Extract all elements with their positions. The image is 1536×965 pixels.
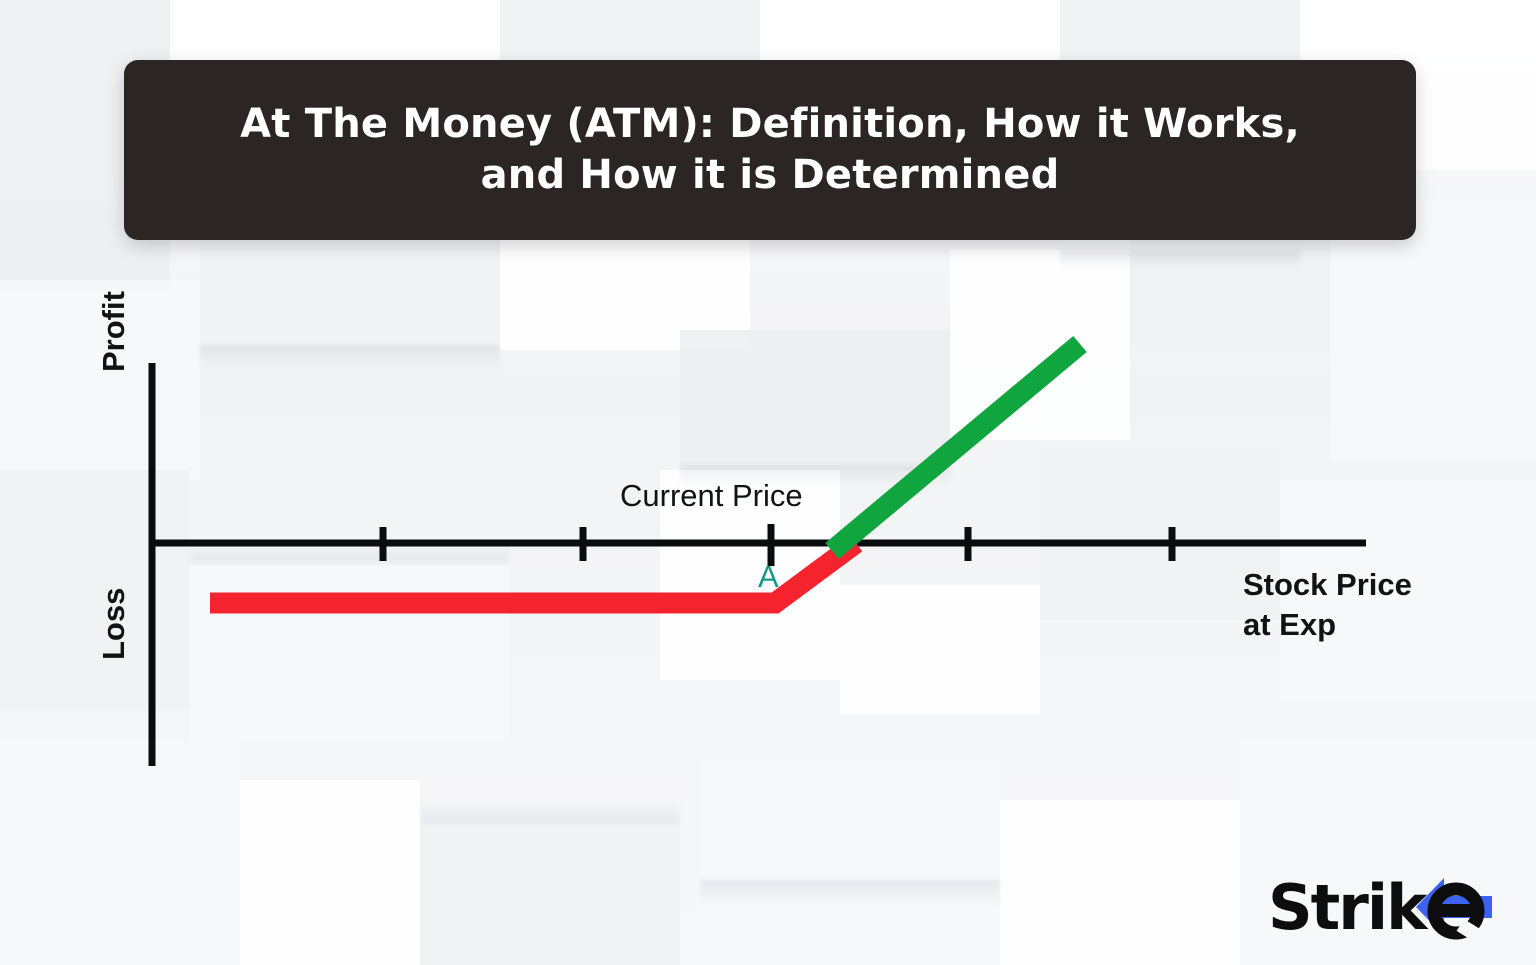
page-title-line-2: and How it is Determined: [481, 152, 1060, 198]
y-axis-label-loss: Loss: [96, 588, 132, 660]
page-title: At The Money (ATM): Definition, How it W…: [200, 99, 1340, 201]
title-banner: At The Money (ATM): Definition, How it W…: [124, 60, 1416, 240]
y-axis-label-profit: Profit: [96, 291, 132, 372]
x-axis-label: Stock Price at Exp: [1243, 565, 1503, 644]
profit-series-line: [832, 344, 1080, 551]
strike-wordmark: Strik: [1268, 871, 1429, 944]
x-axis-label-line-2: at Exp: [1243, 605, 1503, 645]
current-price-annotation: Current Price: [620, 478, 803, 514]
strike-logo: Strik: [1268, 867, 1508, 947]
point-a-annotation: A: [758, 559, 779, 595]
x-axis-label-line-1: Stock Price: [1243, 565, 1503, 605]
page-title-line-1: At The Money (ATM): Definition, How it W…: [240, 101, 1300, 147]
